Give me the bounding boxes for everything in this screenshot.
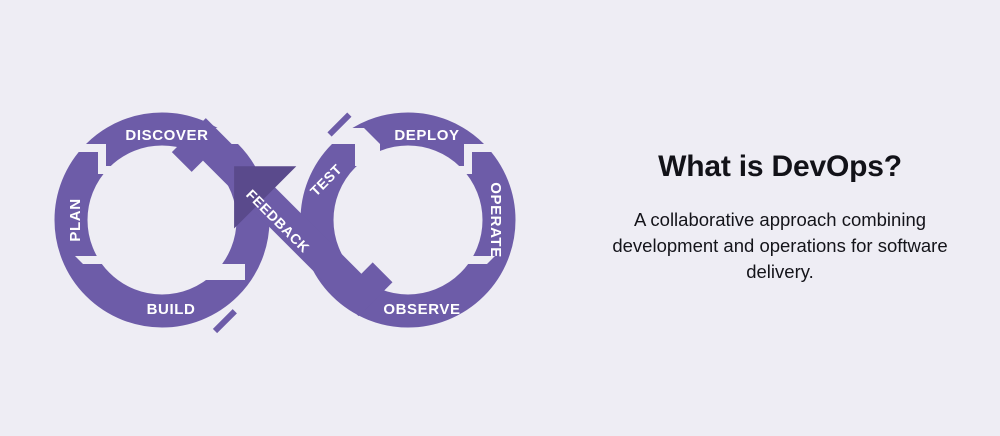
stage-label-deploy: DEPLOY (394, 127, 459, 144)
stage-label-operate: OPERATE (487, 182, 504, 258)
diagram-panel: TEST FEEDBACK DISCOVER PLAN (0, 0, 560, 436)
operate-label-group: OPERATE (487, 182, 504, 258)
text-panel-inner: What is DevOps? A collaborative approach… (580, 150, 980, 285)
stage-label-discover: DISCOVER (125, 127, 208, 144)
stage-label-plan: PLAN (67, 198, 84, 241)
page-title: What is DevOps? (580, 150, 980, 185)
stage-label-observe: OBSERVE (383, 301, 460, 318)
devops-infinity-loop-diagram: TEST FEEDBACK DISCOVER PLAN (30, 88, 540, 353)
devops-infographic-page: TEST FEEDBACK DISCOVER PLAN (0, 0, 1000, 436)
stage-label-build: BUILD (147, 301, 196, 318)
plan-label-group: PLAN (67, 198, 84, 241)
text-panel: What is DevOps? A collaborative approach… (560, 0, 1000, 436)
page-description: A collaborative approach combining devel… (580, 207, 980, 286)
